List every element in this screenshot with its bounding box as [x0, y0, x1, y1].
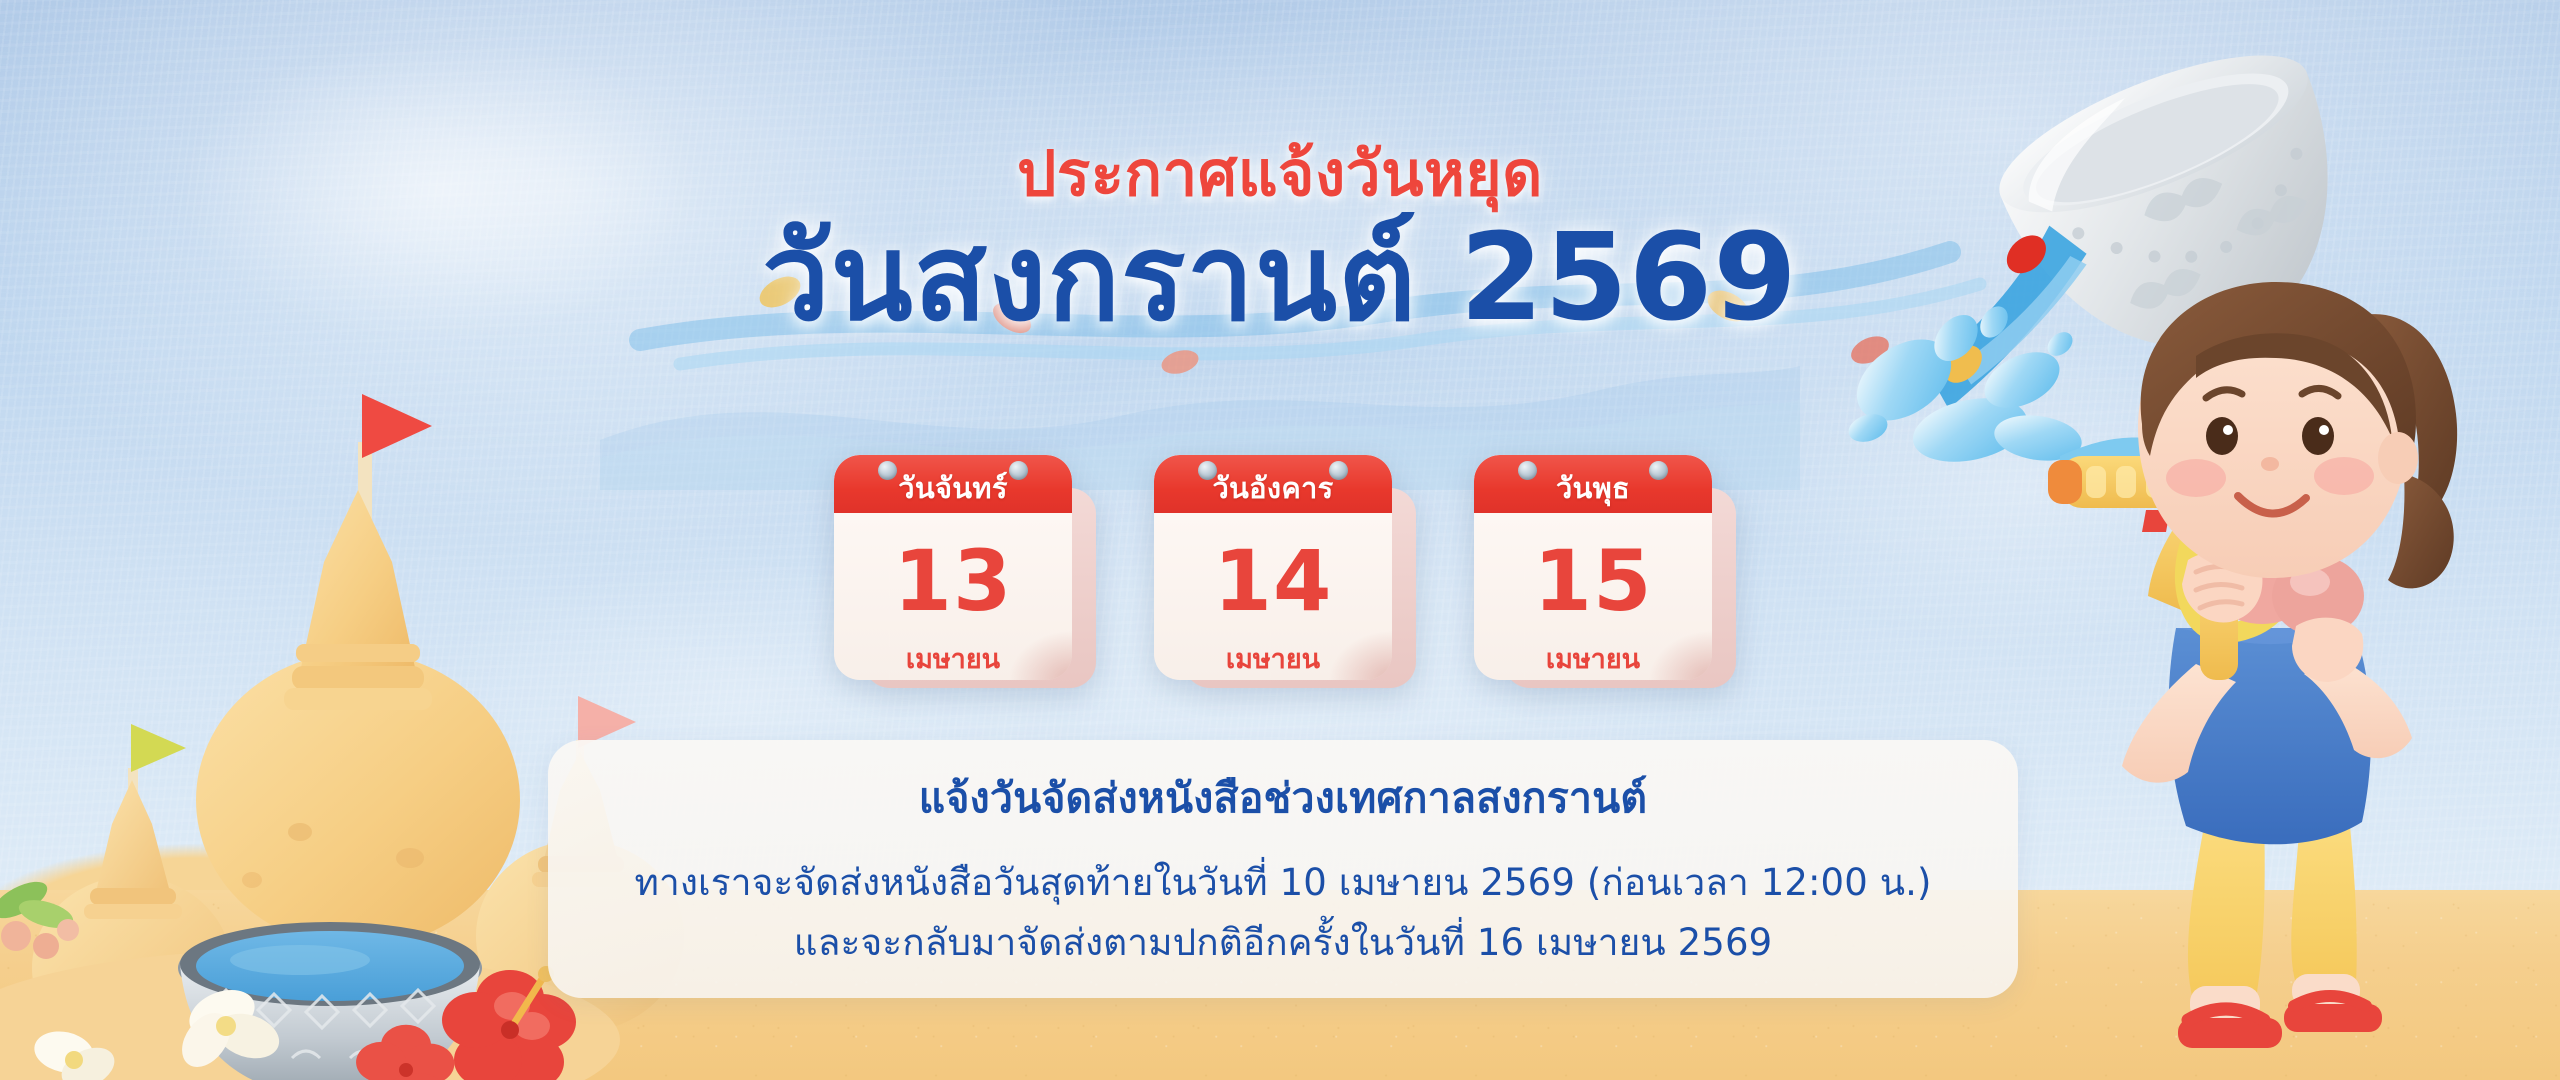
calendar-header: วันจันทร์: [834, 455, 1072, 513]
calendar-front-sheet: วันอังคาร 14 เมษายน: [1154, 455, 1392, 680]
headline-subtitle: ประกาศแจ้งวันหยุด: [0, 140, 2560, 208]
binder-ring-icon: [1518, 461, 1537, 480]
binder-ring-icon: [1329, 461, 1348, 480]
panel-line-1: ทางเราจะจัดส่งหนังสือวันสุดท้ายในวันที่ …: [635, 853, 1932, 913]
calendar-date: 13: [894, 539, 1013, 623]
panel-title: แจ้งวันจัดส่งหนังสือช่วงเทศกาลสงกรานต์: [919, 766, 1647, 831]
calendar-day-name: วันจันทร์: [898, 457, 1007, 511]
calendar-front-sheet: วันจันทร์ 13 เมษายน: [834, 455, 1072, 680]
binder-ring-icon: [878, 461, 897, 480]
calendar-row: วันจันทร์ 13 เมษายน วันอังคาร 14 เมษายน: [0, 455, 2560, 680]
calendar-header: วันพุธ: [1474, 455, 1712, 513]
calendar-card[interactable]: วันพุธ 15 เมษายน: [1474, 455, 1726, 680]
calendar-date: 15: [1534, 539, 1653, 623]
calendar-date: 14: [1214, 539, 1333, 623]
calendar-month: เมษายน: [1546, 637, 1640, 680]
binder-ring-icon: [1198, 461, 1217, 480]
calendar-front-sheet: วันพุธ 15 เมษายน: [1474, 455, 1712, 680]
calendar-card[interactable]: วันอังคาร 14 เมษายน: [1154, 455, 1406, 680]
calendar-month: เมษายน: [906, 637, 1000, 680]
calendar-month: เมษายน: [1226, 637, 1320, 680]
calendar-card[interactable]: วันจันทร์ 13 เมษายน: [834, 455, 1086, 680]
page-title: วันสงกรานต์ 2569: [0, 212, 2560, 346]
calendar-day-name: วันอังคาร: [1212, 457, 1333, 511]
songkran-holiday-banner: ประกาศแจ้งวันหยุด วันสงกรานต์ 2569 วันจั…: [0, 0, 2560, 1080]
calendar-header: วันอังคาร: [1154, 455, 1392, 513]
headline-block: ประกาศแจ้งวันหยุด วันสงกรานต์ 2569: [0, 140, 2560, 347]
binder-ring-icon: [1649, 461, 1668, 480]
binder-ring-icon: [1009, 461, 1028, 480]
delivery-info-panel: แจ้งวันจัดส่งหนังสือช่วงเทศกาลสงกรานต์ ท…: [548, 740, 2018, 998]
calendar-day-name: วันพุธ: [1556, 457, 1630, 511]
panel-line-2: และจะกลับมาจัดส่งตามปกติอีกครั้งในวันที่…: [794, 913, 1772, 973]
